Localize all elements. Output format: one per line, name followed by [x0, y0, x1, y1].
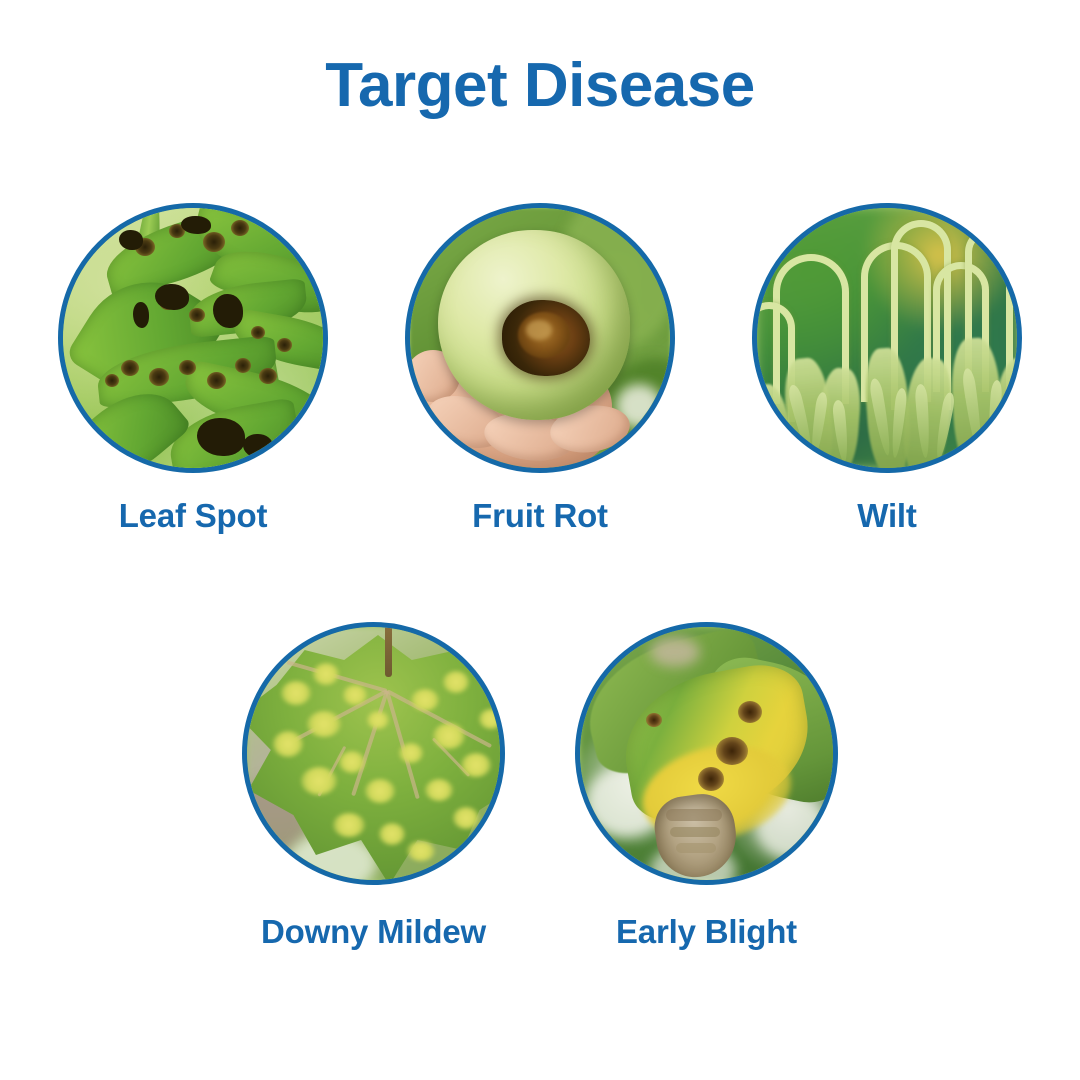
- poster-canvas: Target Disease: [0, 0, 1080, 1080]
- wilt-circle[interactable]: [752, 203, 1022, 473]
- disease-label: Leaf Spot: [119, 499, 268, 532]
- fruit-rot-circle[interactable]: [405, 203, 675, 473]
- disease-label: Downy Mildew: [261, 915, 486, 948]
- disease-card-downy-mildew[interactable]: Downy Mildew: [242, 622, 505, 948]
- early-blight-circle[interactable]: [575, 622, 838, 885]
- disease-row-1: Leaf Spot: [0, 203, 1080, 532]
- leaf-spot-circle[interactable]: [58, 203, 328, 473]
- disease-card-leaf-spot[interactable]: Leaf Spot: [58, 203, 328, 532]
- wilt-photo: [757, 208, 1017, 468]
- disease-card-fruit-rot[interactable]: Fruit Rot: [405, 203, 675, 532]
- downy-mildew-circle[interactable]: [242, 622, 505, 885]
- leaf-spot-photo: [63, 208, 323, 468]
- disease-label: Wilt: [857, 499, 916, 532]
- downy-mildew-photo: [247, 627, 500, 880]
- disease-label: Fruit Rot: [472, 499, 608, 532]
- disease-card-wilt[interactable]: Wilt: [752, 203, 1022, 532]
- fruit-rot-photo: [410, 208, 670, 468]
- page-title: Target Disease: [0, 52, 1080, 120]
- disease-card-early-blight[interactable]: Early Blight: [575, 622, 838, 948]
- early-blight-photo: [580, 627, 833, 880]
- disease-label: Early Blight: [616, 915, 797, 948]
- disease-row-2: Downy Mildew: [0, 622, 1080, 948]
